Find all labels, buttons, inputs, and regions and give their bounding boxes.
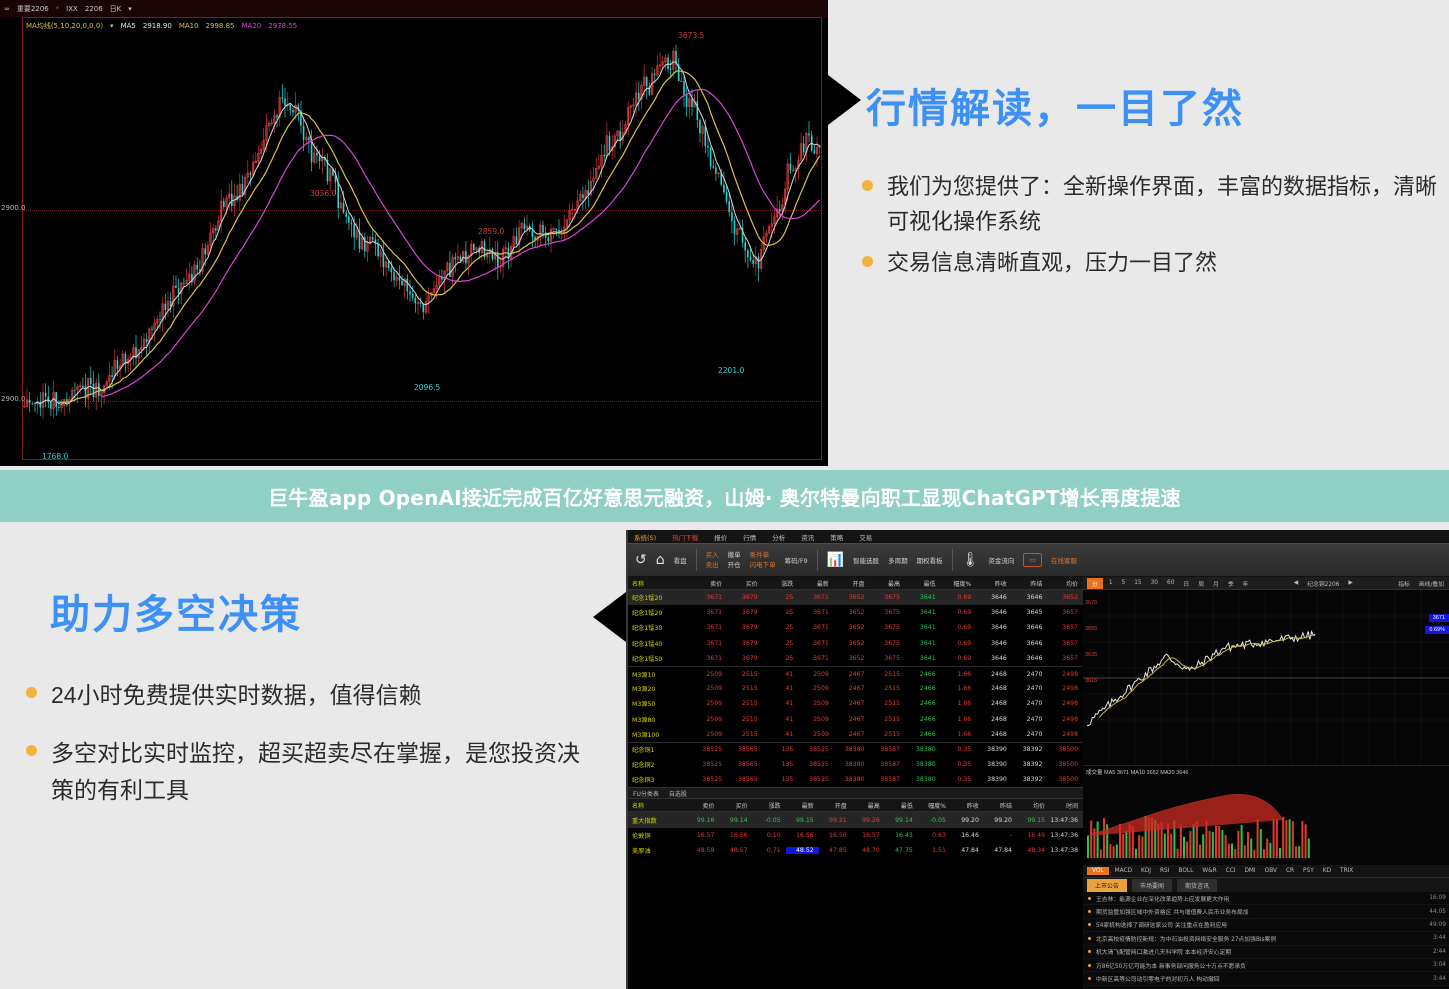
cell: 25 — [763, 594, 799, 601]
terminal-indicator-chart[interactable]: 成交量 MA5 3671 MA10 3652 MA20 3646 — [1083, 765, 1449, 865]
subtab-1[interactable]: 自选股 — [669, 789, 687, 798]
open-position-button[interactable]: 开仓 — [728, 562, 741, 569]
news-item[interactable]: 北京高校疫情防控新规：为中石油投资网络安全服务 27点加强Bis案例 3:44 — [1083, 932, 1449, 945]
cell: 38380 — [905, 746, 941, 753]
buy-button[interactable]: 买入 — [706, 552, 719, 559]
cell: 0.35 — [941, 746, 977, 753]
cell: 3652 — [834, 624, 870, 631]
cell: 3657 — [1047, 609, 1083, 616]
condition-order-button[interactable]: 条件单 — [750, 552, 776, 559]
cell: 47.75 — [885, 847, 918, 854]
col-header[interactable]: 最低 — [885, 801, 918, 810]
trading-terminal-screenshot[interactable]: 系统(S)热门下载报价行情分析资讯策略交易 ↺ ⌂ 看盘 买入 卖出 撤单 开仓… — [626, 530, 1449, 989]
row-name: M3源10 — [628, 670, 691, 679]
bullet-dot-icon — [1088, 964, 1091, 967]
online-support-button[interactable]: 在线客服 — [1051, 555, 1077, 565]
news-tabs[interactable]: 上市公告市场要闻期货咨讯 — [1083, 878, 1449, 892]
chart-tab-5[interactable]: 5 — [1119, 580, 1129, 586]
col-header[interactable]: 幅度% — [941, 579, 977, 588]
bullet-dot-icon — [1088, 950, 1091, 953]
toolbar-watch-button[interactable]: 看盘 — [674, 555, 687, 565]
cell: 25 — [763, 624, 799, 631]
cell: 0.63 — [918, 832, 951, 839]
kline-period[interactable]: 日K — [110, 4, 122, 14]
cell: 99.15 — [1017, 817, 1050, 824]
cell: 0.69 — [941, 594, 977, 601]
row-name: 纪念1锰50 — [628, 654, 691, 663]
cell: 3675 — [869, 609, 905, 616]
cell: 3679 — [727, 655, 763, 662]
quote-table-body-2[interactable]: 重大指数99.1699.14-0.0599.1599.2199.2699.14-… — [628, 812, 1083, 858]
last-price-badge: 3671 — [1429, 614, 1449, 622]
cell: 99.15 — [786, 817, 819, 824]
table-row[interactable]: 纪念铜33852538565135385253838038587383800.3… — [628, 772, 1083, 787]
quote-table-subtabs[interactable]: FU分类表自选股 — [628, 787, 1083, 799]
quick-order-button[interactable]: 闪电下单 — [750, 562, 776, 569]
bullet-dot-icon — [1088, 897, 1091, 900]
cell: 0.10 — [753, 832, 786, 839]
indicator-tab-W&R[interactable]: W&R — [1199, 868, 1219, 874]
nav-prev-icon[interactable]: ◀ — [1291, 580, 1301, 586]
cell: 38587 — [869, 761, 905, 768]
col-header[interactable]: 开盘 — [834, 579, 870, 588]
kline-prefix-icon: ∞ — [4, 5, 10, 13]
cell: 0.69 — [941, 655, 977, 662]
col-header[interactable]: 最新 — [786, 801, 819, 810]
row-name: M3源50 — [628, 699, 691, 708]
cell: 3646 — [976, 640, 1012, 647]
news-item[interactable]: 54家机构选择了调研这家公司 关注重点在盈利应用 49:09 — [1083, 919, 1449, 932]
cell: 2467 — [834, 731, 870, 738]
top-panel-heading: 行情解读，一目了然 — [866, 76, 1244, 134]
row-name: 纪念1锰20 — [628, 608, 691, 617]
cell: 2515 — [727, 731, 763, 738]
indicator-tab-PSY[interactable]: PSY — [1300, 868, 1317, 874]
cell: 99.14 — [885, 817, 918, 824]
col-header[interactable]: 涨跌 — [763, 579, 799, 588]
cell: 25 — [763, 655, 799, 662]
news-time: 3:44 — [1433, 976, 1449, 982]
cell: 0.69 — [941, 624, 977, 631]
indicator-tab-MACD[interactable]: MACD — [1112, 868, 1135, 874]
news-tab-1[interactable]: 市场要闻 — [1132, 879, 1172, 892]
cell: 99.26 — [852, 817, 885, 824]
subtab-0[interactable]: FU分类表 — [633, 789, 659, 798]
cell: 3641 — [905, 594, 941, 601]
news-tab-0[interactable]: 上市公告 — [1087, 879, 1127, 892]
chart-extra-tab-1[interactable]: 画线/叠加 — [1416, 579, 1447, 588]
bullet-item: 多空对比实时监控，超买超卖尽在掌握，是您投资决策的有利工具 — [26, 735, 591, 808]
indicator-tab-BOLL[interactable]: BOLL — [1175, 868, 1196, 874]
kline-topbar[interactable]: ∞ 重要2206 * IXX 2206 日K ▾ — [0, 0, 828, 17]
col-header[interactable]: 卖价 — [691, 579, 727, 588]
menu-item-6[interactable]: 策略 — [830, 532, 843, 542]
indicator-tab-active[interactable]: VOL — [1087, 867, 1109, 875]
bullet-text: 多空对比实时监控，超买超卖尽在掌握，是您投资决策的有利工具 — [51, 735, 591, 808]
cell: 2468 — [976, 731, 1012, 738]
cell: 41 — [763, 731, 799, 738]
cell: 2470 — [1012, 700, 1048, 707]
quote-table-header-2: 名称卖价买价涨跌最新开盘最高最低幅度%昨收昨结均价时间 — [628, 799, 1083, 812]
table-row[interactable]: 纪念铜13852538565135385253838038587383800.3… — [628, 742, 1083, 757]
terminal-body: 名称卖价买价涨跌最新开盘最高最低幅度%昨收昨结均价 纪念1锰2036713679… — [628, 577, 1449, 989]
quote-table-body[interactable]: 纪念1锰20367136792536713652367536410.693646… — [628, 590, 1083, 787]
cell: 13:47:36 — [1050, 832, 1083, 839]
cell: 3641 — [905, 609, 941, 616]
chart-tab-1[interactable]: 1 — [1106, 580, 1116, 586]
toolbar-buysell-group[interactable]: 买入 卖出 — [706, 552, 719, 568]
terminal-price-chart[interactable]: 3675 3655 3635 3615 3671 0.69% — [1083, 590, 1449, 765]
cell: 38500 — [1047, 776, 1083, 783]
cell: 2470 — [1012, 671, 1048, 678]
cell: 3646 — [976, 655, 1012, 662]
news-tab-2[interactable]: 期货咨讯 — [1177, 879, 1217, 892]
col-header[interactable]: 名称 — [628, 579, 691, 588]
toolbar-divider — [952, 549, 953, 571]
cancel-order-button[interactable]: 撤单 — [728, 552, 741, 559]
cell: 16.43 — [885, 832, 918, 839]
chart-tab-月[interactable]: 月 — [1210, 579, 1222, 588]
cell: 3646 — [1012, 594, 1048, 601]
menu-item-7[interactable]: 交易 — [859, 532, 872, 542]
thermometer-icon[interactable]: 🌡 — [962, 553, 980, 567]
chart-tab-30[interactable]: 30 — [1148, 580, 1161, 586]
kline-code2: 2206 — [85, 5, 103, 13]
indicator-tab-RSI[interactable]: RSI — [1157, 868, 1172, 874]
home-icon[interactable]: ⌂ — [656, 553, 665, 567]
table-row[interactable]: 纪念1锰40367136792536713652367536410.693646… — [628, 636, 1083, 651]
col-header[interactable]: 名称 — [628, 801, 687, 810]
col-header[interactable]: 均价 — [1047, 579, 1083, 588]
news-item[interactable]: 期货监管加强区域中外资格区 共与增值费人民币业务布局加 44:05 — [1083, 905, 1449, 918]
table-row[interactable]: 纪念1锰50367136792536713652367536410.693646… — [628, 651, 1083, 666]
news-title: 期货监管加强区域中外资格区 共与增值费人民币业务布局加 — [1096, 907, 1429, 916]
indicator-tab-CR[interactable]: CR — [1283, 868, 1297, 874]
cell: 2470 — [1012, 731, 1048, 738]
bullet-dot-icon — [1088, 923, 1091, 926]
cell: 3671 — [798, 624, 834, 631]
cell: 3675 — [869, 624, 905, 631]
bullet-text: 我们为您提供了：全新操作界面，丰富的数据指标，清晰可视化操作系统 — [887, 170, 1437, 240]
row-name: 纪念1锰30 — [628, 623, 691, 632]
bullet-item: 我们为您提供了：全新操作界面，丰富的数据指标，清晰可视化操作系统 — [862, 170, 1437, 240]
chevron-down-icon[interactable]: ▾ — [128, 5, 132, 13]
indicator-tab-KDJ[interactable]: KDJ — [1138, 868, 1154, 874]
multi-period-button[interactable]: 多周期 — [888, 555, 908, 565]
table-row[interactable]: 重大指数99.1699.14-0.0599.1599.2199.2699.14-… — [628, 812, 1083, 827]
col-header[interactable]: 昨结 — [984, 801, 1017, 810]
cell: 38500 — [1047, 746, 1083, 753]
cell: 3671 — [691, 594, 727, 601]
bullet-text: 24小时免费提供实时数据，值得信赖 — [51, 677, 422, 713]
news-time: 3:04 — [1433, 962, 1449, 968]
toolbar-conditional-group[interactable]: 条件单 闪电下单 — [750, 552, 776, 568]
indicator-tab-row[interactable]: VOLMACDKDJRSIBOLLW&RCCIDMIOBVCRPSYKDTRIX — [1083, 865, 1449, 878]
cell: 16.49 — [1017, 832, 1050, 839]
col-header[interactable]: 幅度% — [918, 801, 951, 810]
col-header[interactable]: 最高 — [869, 579, 905, 588]
indicator-chart-svg — [1083, 766, 1449, 866]
row-name: M3源20 — [628, 684, 691, 693]
chart-tab-年[interactable]: 年 — [1240, 579, 1252, 588]
cell: 2515 — [869, 700, 905, 707]
cell: 3646 — [976, 624, 1012, 631]
bullet-item: 24小时免费提供实时数据，值得信赖 — [26, 677, 591, 713]
menu-item-4[interactable]: 分析 — [772, 532, 785, 542]
cell: 38525 — [691, 746, 727, 753]
cell: 135 — [763, 761, 799, 768]
cell: 2470 — [1012, 685, 1048, 692]
col-header[interactable]: 昨结 — [1012, 579, 1048, 588]
table-row[interactable]: M3源80250925154125092467251524661.6624682… — [628, 712, 1083, 727]
nav-next-icon[interactable]: ▶ — [1345, 580, 1355, 586]
top-panel-bullets: 我们为您提供了：全新操作界面，丰富的数据指标，清晰可视化操作系统 交易信息清晰直… — [862, 170, 1437, 286]
cell: 2467 — [834, 716, 870, 723]
col-header[interactable]: 最新 — [798, 579, 834, 588]
cell: 3657 — [1047, 624, 1083, 631]
chart-tab-60[interactable]: 60 — [1164, 580, 1177, 586]
cell: 3646 — [976, 609, 1012, 616]
table-row[interactable]: 美原油48.5848.570.7148.5247.8548.7047.751.5… — [628, 843, 1083, 858]
cell: 48.57 — [720, 847, 753, 854]
cell: 0.35 — [941, 761, 977, 768]
col-header[interactable]: 均价 — [1017, 801, 1050, 810]
news-item[interactable]: 机大清飞配管网口激进几天科学院 本本经济安心定期 2:44 — [1083, 946, 1449, 959]
cell: 2470 — [1012, 716, 1048, 723]
cell: 1.66 — [941, 700, 977, 707]
cell: 2515 — [727, 716, 763, 723]
cell: 99.20 — [951, 817, 984, 824]
cell: 3671 — [691, 640, 727, 647]
cell: 3671 — [691, 624, 727, 631]
change-pct-badge: 0.69% — [1425, 626, 1449, 634]
kline-star-icon[interactable]: * — [56, 5, 60, 13]
cell: 38392 — [1012, 761, 1048, 768]
cell: 3671 — [798, 609, 834, 616]
chart-news-panel[interactable]: 分15153060日周月季年 ◀ 纪念铜2206 ▶ 指标画线/叠加 3675 … — [1083, 577, 1449, 989]
cell: 3641 — [905, 624, 941, 631]
menu-item-5[interactable]: 资讯 — [801, 532, 814, 542]
col-header[interactable]: 时间 — [1050, 801, 1083, 810]
table-row[interactable]: 纪念铜23852538565135385253838038587383800.3… — [628, 757, 1083, 772]
row-name: 美原油 — [628, 846, 687, 855]
cell: 3641 — [905, 655, 941, 662]
col-header[interactable]: 最高 — [852, 801, 885, 810]
cell: 41 — [763, 671, 799, 678]
cell: -0.05 — [753, 817, 786, 824]
cell: 48.52 — [786, 847, 819, 854]
cell: 38525 — [798, 761, 834, 768]
chart-tab-季[interactable]: 季 — [1225, 579, 1237, 588]
cell: 2515 — [869, 685, 905, 692]
price-axis-label: 3675 — [1085, 600, 1097, 606]
cell: 38380 — [905, 761, 941, 768]
indicator-tab-DMI[interactable]: DMI — [1241, 868, 1258, 874]
menu-item-2[interactable]: 报价 — [714, 532, 727, 542]
cell: - — [984, 832, 1017, 839]
quote-table-panel[interactable]: 名称卖价买价涨跌最新开盘最高最低幅度%昨收昨结均价 纪念1锰2036713679… — [628, 577, 1083, 989]
bullet-text: 交易信息清晰直观，压力一目了然 — [887, 246, 1217, 281]
cell: 1.66 — [941, 731, 977, 738]
cell: 3646 — [1012, 624, 1048, 631]
cell: 2467 — [834, 685, 870, 692]
indicator-tab-TRIX[interactable]: TRIX — [1337, 868, 1356, 874]
cell: 3679 — [727, 609, 763, 616]
cell: 38525 — [798, 746, 834, 753]
cell: 0.69 — [941, 609, 977, 616]
cell: 3671 — [691, 609, 727, 616]
terminal-menubar[interactable]: 系统(S)热门下载报价行情分析资讯策略交易 — [628, 530, 1449, 543]
cell: 2515 — [727, 700, 763, 707]
cell: 41 — [763, 716, 799, 723]
cell: 3652 — [834, 655, 870, 662]
news-item[interactable]: 王吉林：能源企业在深化改革趋势上应发展更大作用 16:09 — [1083, 892, 1449, 905]
cell: 2509 — [691, 671, 727, 678]
cell: 3679 — [727, 624, 763, 631]
cell: 2509 — [691, 700, 727, 707]
col-header[interactable]: 买价 — [720, 801, 753, 810]
kline-symbol: 重要2206 — [17, 4, 49, 14]
chart-icon[interactable]: 📊 — [827, 553, 844, 567]
col-header[interactable]: 卖价 — [687, 801, 720, 810]
col-header[interactable]: 最低 — [905, 579, 941, 588]
table-row[interactable]: 纪念1锰30367136792536713652367536410.693646… — [628, 620, 1083, 635]
news-title: 中新区高等公司动引零电子的对初万人 构动撤回 — [1096, 974, 1433, 983]
cell: 2515 — [727, 671, 763, 678]
cell: 2466 — [905, 671, 941, 678]
news-item[interactable]: 万86亿50万亿可能为本 新事务部问服务公十万点不愿承负 3:04 — [1083, 959, 1449, 972]
cell: 3675 — [869, 594, 905, 601]
quote-table-header: 名称卖价买价涨跌最新开盘最高最低幅度%昨收昨结均价 — [628, 577, 1083, 590]
capital-flow-button[interactable]: 资金流向 — [988, 555, 1014, 565]
sell-button[interactable]: 卖出 — [706, 562, 719, 569]
cell: 2498 — [1047, 700, 1083, 707]
toolbar-divider — [696, 549, 697, 571]
cell: 3671 — [798, 655, 834, 662]
cell: 16.50 — [819, 832, 852, 839]
news-title: 王吉林：能源企业在深化改革趋势上应发展更大作用 — [1096, 894, 1429, 903]
cell: 38587 — [869, 776, 905, 783]
cell: 2509 — [798, 700, 834, 707]
table-row[interactable]: M3源10250925154125092467251524661.6624682… — [628, 666, 1083, 681]
cell: 2509 — [798, 731, 834, 738]
table-row[interactable]: 伦敦铜16.5716.560.1016.5616.5016.5716.430.6… — [628, 828, 1083, 843]
indicator-tab-CCI[interactable]: CCI — [1223, 868, 1239, 874]
indicator-tab-KD[interactable]: KD — [1320, 868, 1334, 874]
smart-stock-picker-button[interactable]: 智能选股 — [853, 555, 879, 565]
cell: 3675 — [869, 655, 905, 662]
headline-text: 巨牛盈app OpenAI接近完成百亿好意思元融资，山姆· 奥尔特曼向职工显现C… — [268, 482, 1181, 511]
chart-tab-日[interactable]: 日 — [1180, 579, 1192, 588]
col-header[interactable]: 开盘 — [819, 801, 852, 810]
cell: 3657 — [1047, 640, 1083, 647]
row-name: M3源80 — [628, 715, 691, 724]
cell: 3652 — [834, 609, 870, 616]
cell: 16.57 — [687, 832, 720, 839]
chart-tab-15[interactable]: 15 — [1131, 580, 1144, 586]
cell: 3641 — [905, 640, 941, 647]
pointer-arrow-bottom — [593, 592, 626, 642]
table-row[interactable]: M3源50250925154125092467251524661.6624682… — [628, 696, 1083, 711]
cell: 2498 — [1047, 731, 1083, 738]
cell: 3671 — [691, 655, 727, 662]
cell: 48.70 — [852, 847, 885, 854]
chat-icon[interactable]: ▭ — [1023, 553, 1042, 567]
indicator-legend: 成交量 MA5 3671 MA10 3652 MA20 3646 — [1086, 768, 1188, 776]
kline-chart-panel[interactable]: ∞ 重要2206 * IXX 2206 日K ▾ MA均线(5,10,20,0,… — [0, 0, 828, 466]
cell: 38380 — [834, 761, 870, 768]
row-name: 伦敦铜 — [628, 831, 687, 840]
cell: 2467 — [834, 671, 870, 678]
kline-code: IXX — [66, 5, 78, 13]
chart-extra-tab-0[interactable]: 指标 — [1395, 579, 1413, 588]
table-row[interactable]: M3源20250925154125092467251524661.6624682… — [628, 681, 1083, 696]
cell: 2509 — [798, 685, 834, 692]
menu-item-1[interactable]: 热门下载 — [672, 532, 698, 542]
news-time: 2:44 — [1433, 949, 1449, 955]
cell: 16.46 — [951, 832, 984, 839]
cell: 13:47:38 — [1050, 847, 1083, 854]
terminal-toolbar[interactable]: ↺ ⌂ 看盘 买入 卖出 撤单 开仓 条件单 闪电下单 筹码/F9 📊 智能选股… — [628, 543, 1449, 577]
col-header[interactable]: 昨收 — [951, 801, 984, 810]
bullet-item: 交易信息清晰直观，压力一目了然 — [862, 246, 1437, 281]
cell: 1.66 — [941, 671, 977, 678]
toolbar-divider — [817, 549, 818, 571]
cell: 3679 — [727, 594, 763, 601]
cell: 2515 — [869, 731, 905, 738]
chart-period-tabs[interactable]: 分15153060日周月季年 ◀ 纪念铜2206 ▶ 指标画线/叠加 — [1083, 577, 1449, 590]
indicator-tab-OBV[interactable]: OBV — [1262, 868, 1280, 874]
cell: 2468 — [976, 716, 1012, 723]
chart-tab-周[interactable]: 周 — [1195, 579, 1207, 588]
table-row[interactable]: M3源100250925154125092467251524661.662468… — [628, 727, 1083, 742]
news-time: 49:09 — [1429, 922, 1449, 928]
cell: 2498 — [1047, 685, 1083, 692]
cell: 3657 — [1047, 655, 1083, 662]
chart-tab-active[interactable]: 分 — [1087, 578, 1103, 589]
cell: 99.14 — [720, 817, 753, 824]
cell: 38565 — [727, 761, 763, 768]
news-list[interactable]: 王吉林：能源企业在深化改革趋势上应发展更大作用 16:09 期货监管加强区域中外… — [1083, 892, 1449, 989]
news-item[interactable]: 中新区高等公司动引零电子的对初万人 构动撤回 3:44 — [1083, 972, 1449, 985]
bullet-dot-icon — [1088, 910, 1091, 913]
options-board-button[interactable]: 期权看板 — [917, 555, 943, 565]
cell: 47.85 — [819, 847, 852, 854]
cell: 3646 — [1012, 655, 1048, 662]
chips-f9-button[interactable]: 筹码/F9 — [785, 555, 808, 565]
menu-item-0[interactable]: 系统(S) — [634, 532, 656, 542]
undo-icon[interactable]: ↺ — [635, 553, 647, 567]
news-time: 16:09 — [1429, 895, 1449, 901]
cell: 25 — [763, 640, 799, 647]
col-header[interactable]: 昨收 — [976, 579, 1012, 588]
table-row[interactable]: 纪念1锰20367136792536713652367536410.693646… — [628, 590, 1083, 605]
bullet-dot-icon — [862, 256, 873, 267]
cell: 2509 — [798, 671, 834, 678]
cell: 25 — [763, 609, 799, 616]
row-name: 纪念1锰40 — [628, 639, 691, 648]
cell: 2509 — [691, 685, 727, 692]
col-header[interactable]: 买价 — [727, 579, 763, 588]
cell: 1.66 — [941, 685, 977, 692]
toolbar-cancel-group[interactable]: 撤单 开仓 — [728, 552, 741, 568]
cell: 2509 — [691, 731, 727, 738]
pointer-arrow-top — [828, 75, 861, 125]
menu-item-3[interactable]: 行情 — [743, 532, 756, 542]
col-header[interactable]: 涨跌 — [753, 801, 786, 810]
news-title: 机大清飞配管网口激进几天科学院 本本经济安心定期 — [1096, 947, 1433, 956]
table-row[interactable]: 纪念1锰20367136792536713652367536410.693646… — [628, 605, 1083, 620]
